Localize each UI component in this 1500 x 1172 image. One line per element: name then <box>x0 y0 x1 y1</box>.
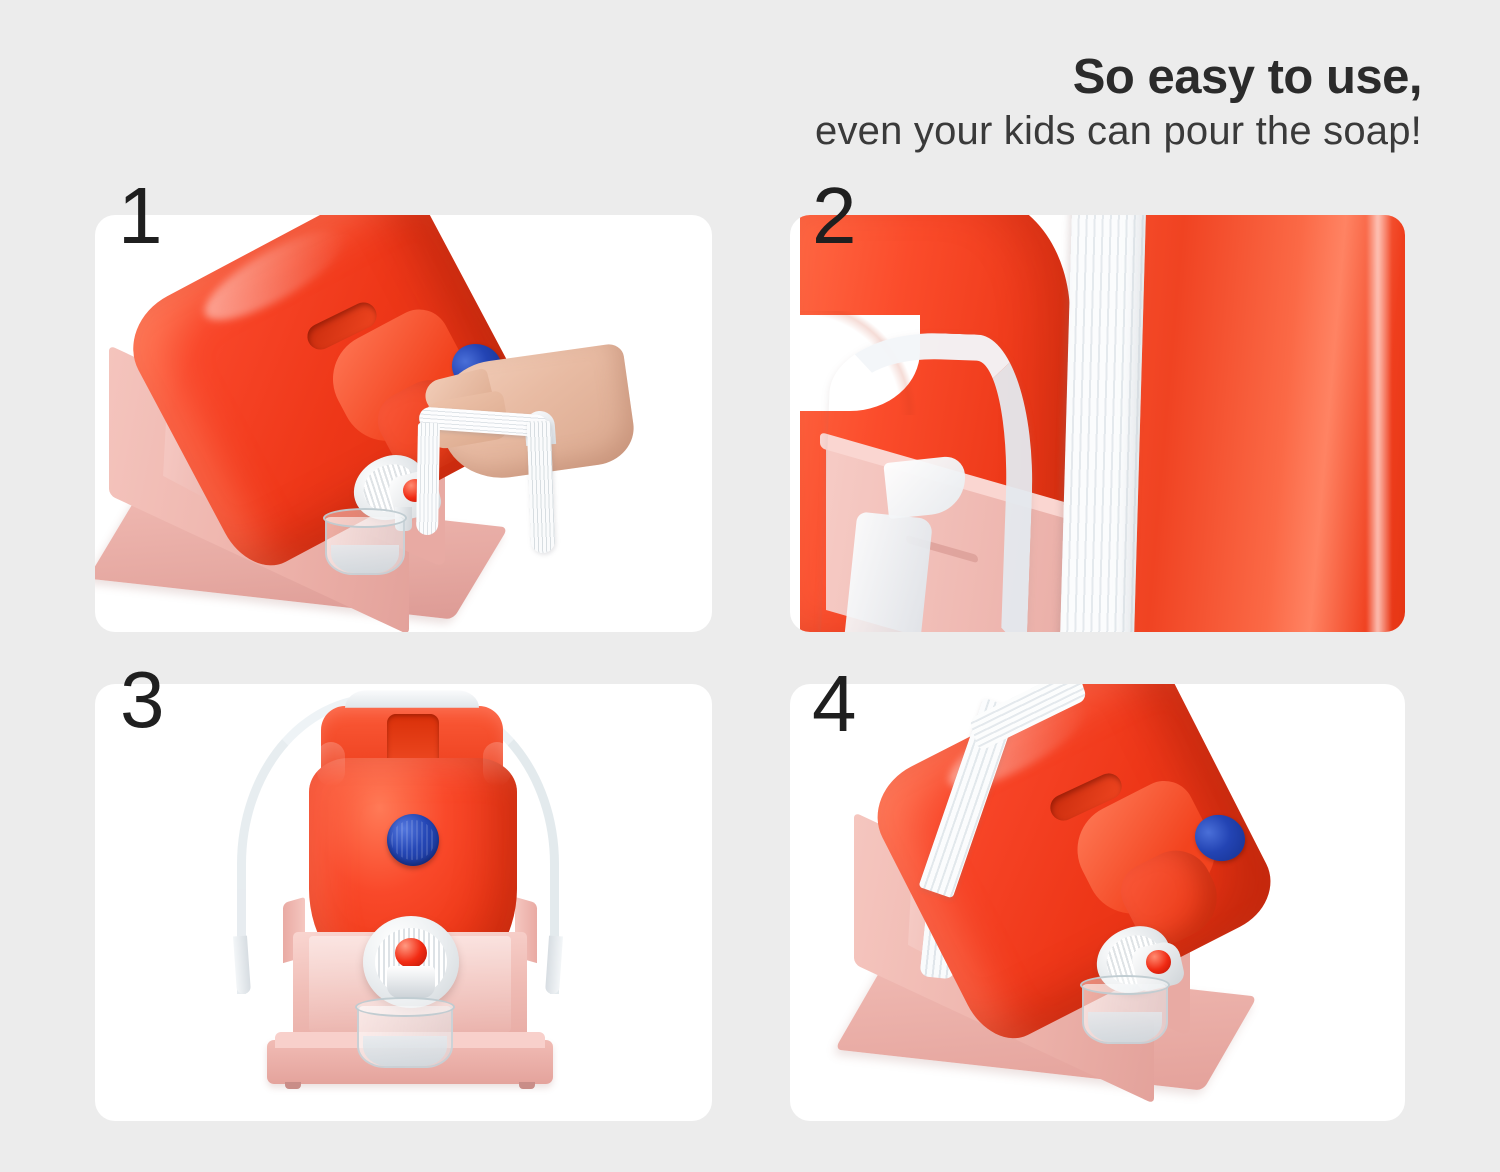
velcro-strap-tail <box>843 511 933 632</box>
step-number-1: 1 <box>118 176 163 256</box>
headline-line-2: even your kids can pour the soap! <box>522 106 1422 156</box>
step-number-4: 4 <box>812 664 857 744</box>
spigot-red-button <box>1146 950 1171 974</box>
measuring-cup-liquid <box>1088 1012 1162 1042</box>
velcro-strap-top <box>345 690 479 708</box>
step-card-2 <box>790 215 1405 632</box>
velcro-strap-right-leg <box>527 421 556 554</box>
step-3-illustration <box>95 684 712 1121</box>
bottle-right-ridge <box>483 742 511 786</box>
step-2-illustration <box>790 215 1405 632</box>
measuring-cup-rim <box>355 997 455 1017</box>
headline-block: So easy to use, even your kids can pour … <box>522 52 1422 156</box>
step-1-illustration <box>95 215 712 632</box>
spigot-lever <box>387 966 435 998</box>
step-card-1 <box>95 215 712 632</box>
velcro-strap-left-leg <box>416 423 440 535</box>
measuring-cup-liquid <box>363 1036 447 1066</box>
stand-foot-left <box>285 1082 301 1089</box>
instruction-step-grid <box>95 215 1405 1121</box>
step-4-illustration <box>790 684 1405 1121</box>
bottle-seam-highlight <box>1366 215 1392 632</box>
measuring-cup-rim <box>1080 975 1170 995</box>
step-number-2: 2 <box>812 176 857 256</box>
headline-line-1: So easy to use, <box>522 52 1422 103</box>
measuring-cup-rim <box>323 508 407 528</box>
step-number-3: 3 <box>120 660 165 740</box>
bottle-left-ridge <box>317 742 345 786</box>
velcro-strap-vertical <box>1060 215 1147 632</box>
blue-cap-ribs <box>391 820 435 860</box>
spigot-red-button <box>395 938 427 968</box>
velcro-strap-right-end <box>545 936 563 995</box>
measuring-cup-liquid <box>331 545 399 573</box>
step-card-3 <box>95 684 712 1121</box>
stand-foot-right <box>519 1082 535 1089</box>
step-card-4 <box>790 684 1405 1121</box>
